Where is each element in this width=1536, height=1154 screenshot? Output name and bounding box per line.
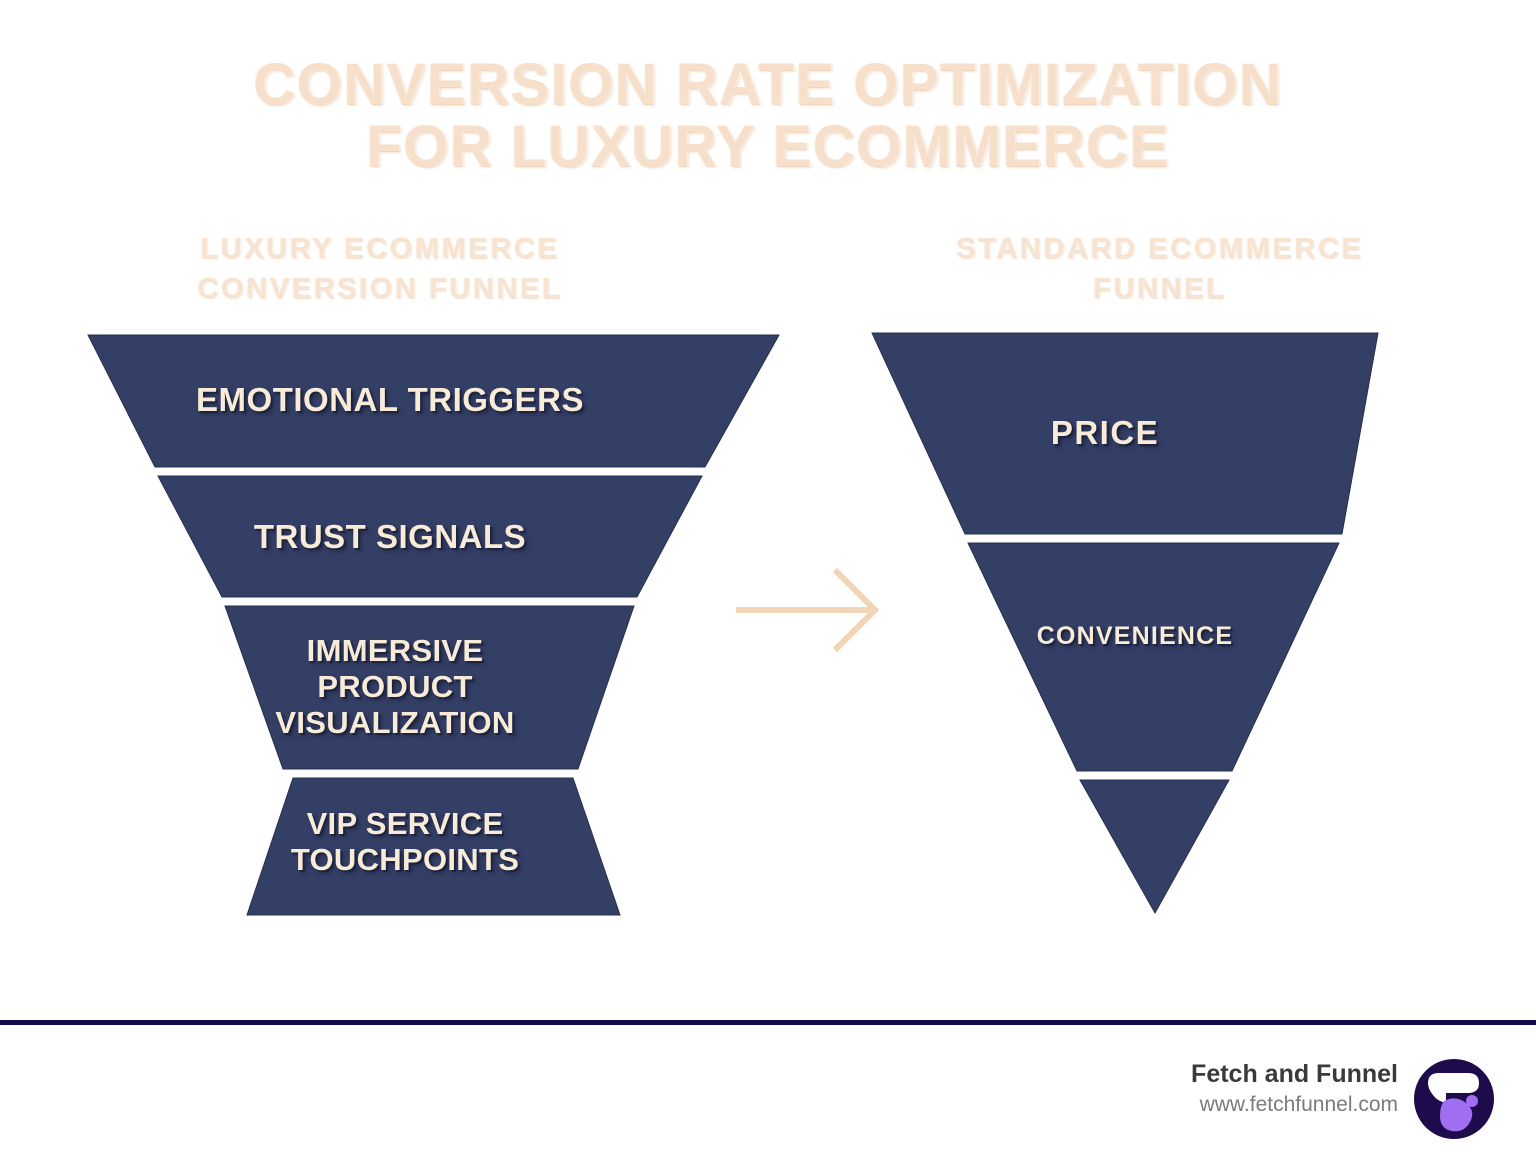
right-funnel-segment-2[interactable] bbox=[968, 543, 1339, 771]
left-funnel-segment-3[interactable] bbox=[225, 606, 634, 769]
left-funnel-segment-2[interactable] bbox=[158, 476, 702, 597]
footer-brand-block: Fetch and Funnel www.fetchfunnel.com bbox=[978, 1058, 1398, 1120]
left-funnel-segment-4[interactable] bbox=[247, 778, 620, 915]
brand-url[interactable]: www.fetchfunnel.com bbox=[978, 1090, 1398, 1120]
slide-canvas: CONVERSION RATE OPTIMIZATION FOR LUXURY … bbox=[0, 0, 1536, 1154]
footer-divider bbox=[0, 1020, 1536, 1025]
brand-name: Fetch and Funnel bbox=[978, 1058, 1398, 1090]
left-funnel-segment-1[interactable] bbox=[88, 335, 779, 467]
arrow-right-icon bbox=[725, 560, 895, 660]
fetch-funnel-logo-icon bbox=[1412, 1057, 1496, 1141]
right-funnel-segment-1[interactable] bbox=[872, 333, 1378, 534]
right-funnel-segment-3[interactable] bbox=[1080, 780, 1229, 913]
